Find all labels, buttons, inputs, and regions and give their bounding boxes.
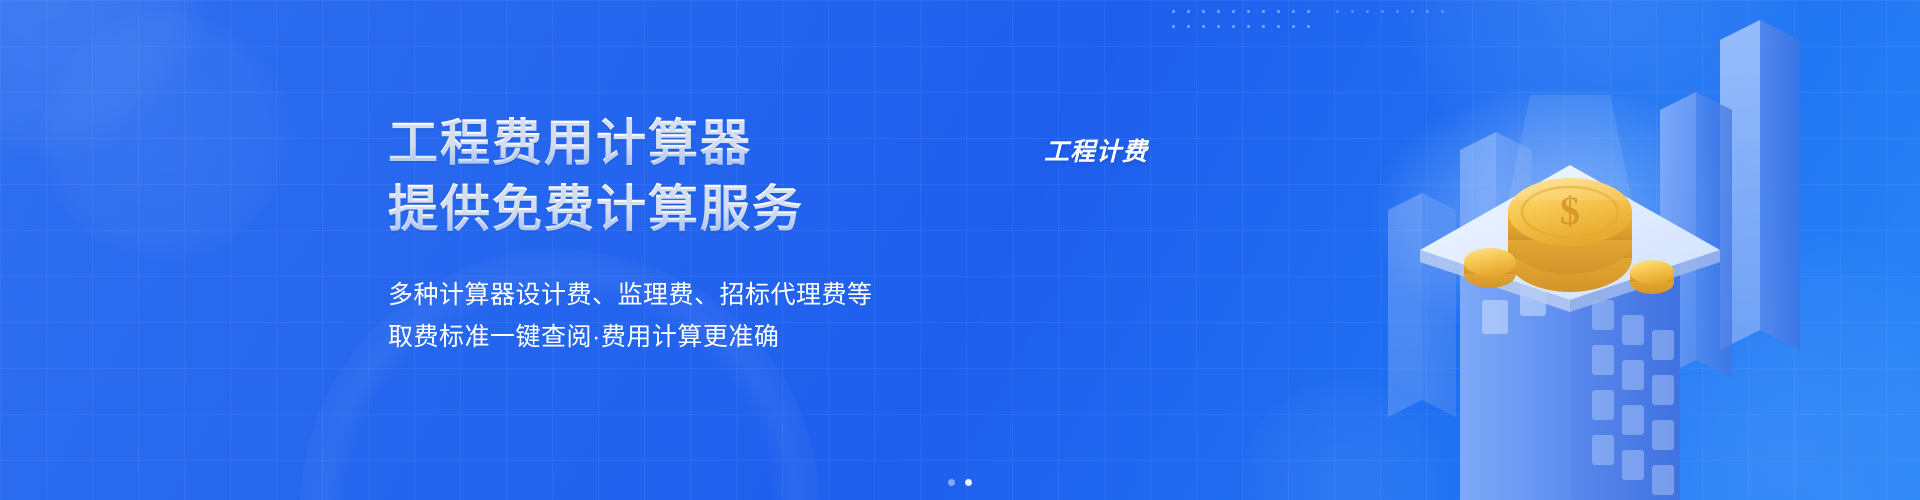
banner-copy: 工程费用计算器 提供免费计算服务 多种计算器设计费、监理费、招标代理费等 取费标… [388, 112, 1028, 358]
banner-headline-line-2: 提供免费计算服务 [388, 178, 1028, 240]
illustration-label: 工程计费 [1044, 132, 1148, 168]
decorative-glow-top-right [1400, 0, 1800, 190]
decorative-blob-left [40, 10, 290, 260]
decorative-blob-top-left [0, 0, 210, 160]
carousel-indicator[interactable] [948, 479, 972, 486]
svg-text:$: $ [1560, 188, 1580, 233]
carousel-dot-2[interactable] [965, 479, 972, 486]
banner-description-line-2: 取费标准一键查阅·费用计算更准确 [388, 316, 1028, 358]
dot-matrix-decoration [1166, 4, 1316, 38]
banner-headline-line-1: 工程费用计算器 [388, 112, 1028, 174]
carousel-dot-1[interactable] [948, 479, 955, 486]
promo-banner: $ 工程计费 工程费用计算器 提供免费计算服务 多种计算器设计费、监理费、招标代… [0, 0, 1920, 500]
dot-matrix-decoration-secondary [1330, 4, 1450, 24]
banner-description-line-1: 多种计算器设计费、监理费、招标代理费等 [388, 274, 1028, 316]
decorative-glow-bottom-mid [1240, 380, 1450, 500]
decorative-glow-bottom-right [1550, 230, 1920, 500]
illustration-engineering-fee: $ [1160, 0, 1920, 500]
